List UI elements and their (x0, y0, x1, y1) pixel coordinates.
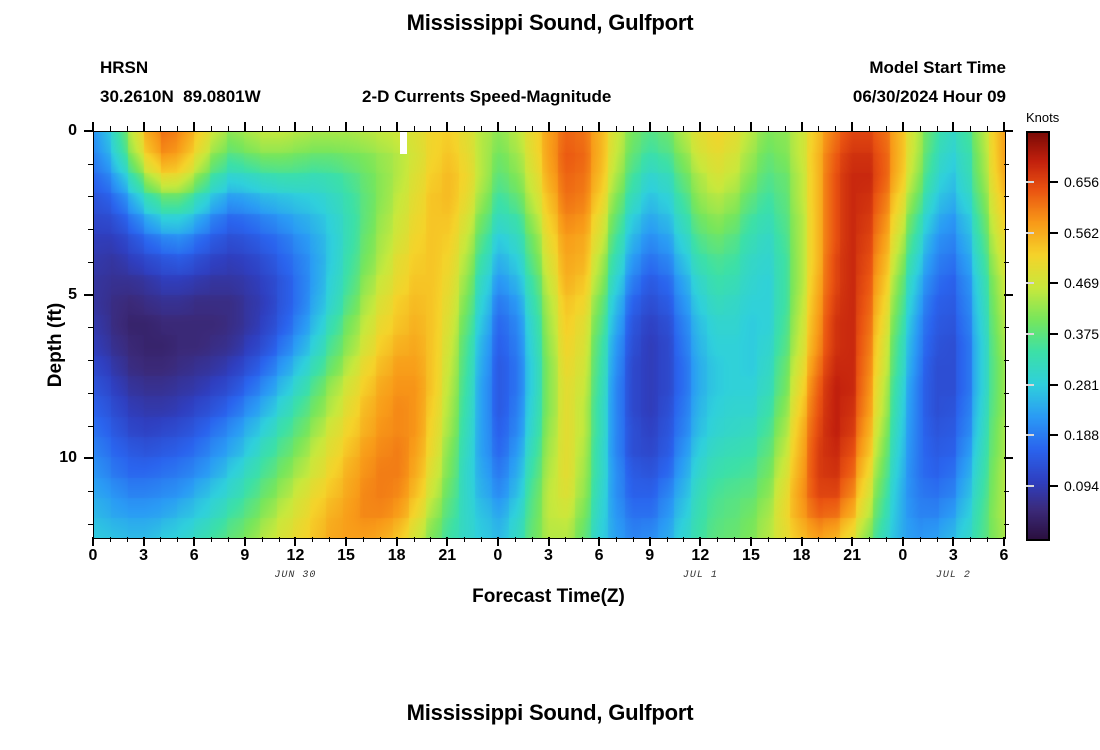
x-axis-tick-label: 3 (949, 547, 958, 565)
x-axis-date-label: JUL 2 (936, 570, 971, 581)
x-axis-major-tick (143, 122, 145, 131)
x-axis-major-tick (92, 122, 94, 131)
y-axis-tick-label: 5 (68, 286, 77, 304)
x-axis-major-tick (497, 122, 499, 131)
plot-subtitle: 2-D Currents Speed-Magnitude (362, 87, 611, 107)
y-axis-major-tick (84, 130, 93, 132)
x-axis-tick-label: 15 (337, 547, 355, 565)
station-id-label: HRSN (100, 58, 148, 78)
x-axis-tick-label: 9 (240, 547, 249, 565)
x-axis-major-tick (244, 122, 246, 131)
colorbar-tick-label: 0.469 (1064, 275, 1099, 291)
x-axis-tick-label: 21 (843, 547, 861, 565)
x-axis-tick-label: 9 (645, 547, 654, 565)
bottom-title: Mississippi Sound, Gulfport (0, 700, 1100, 726)
x-axis-major-tick (345, 122, 347, 131)
x-axis-major-tick (598, 122, 600, 131)
x-axis-tick-label: 18 (793, 547, 811, 565)
colorbar-tick-label: 0.656 (1064, 174, 1099, 190)
x-axis-major-tick (801, 122, 803, 131)
x-axis-tick-label: 6 (595, 547, 604, 565)
x-axis-tick-label: 0 (898, 547, 907, 565)
colorbar-tick-label: 0.188 (1064, 427, 1099, 443)
x-axis-major-tick (446, 122, 448, 131)
colorbar-outer-tick (1050, 181, 1058, 183)
colorbar-tick-label: 0.562 (1064, 225, 1099, 241)
colorbar-tick-label: 0.281 (1064, 377, 1099, 393)
model-start-time-value: 06/30/2024 Hour 09 (853, 87, 1006, 107)
station-coordinates-label: 30.2610N 89.0801W (100, 87, 261, 107)
heatmap-plot-area[interactable] (93, 131, 1006, 539)
x-axis-major-tick (193, 122, 195, 131)
colorbar-unit-label: Knots (1026, 110, 1059, 125)
x-axis-tick-label: 18 (388, 547, 406, 565)
colorbar[interactable] (1026, 131, 1050, 541)
x-axis-tick-label: 15 (742, 547, 760, 565)
colorbar-outer-tick (1050, 434, 1058, 436)
x-axis-tick-label: 3 (544, 547, 553, 565)
colorbar-outer-tick (1050, 333, 1058, 335)
x-axis-major-tick (851, 122, 853, 131)
x-axis-major-tick (750, 122, 752, 131)
model-start-time-label: Model Start Time (869, 58, 1006, 78)
colorbar-outer-tick (1050, 384, 1058, 386)
x-axis-tick-label: 6 (190, 547, 199, 565)
heatmap-canvas[interactable] (94, 132, 1005, 538)
x-axis-tick-label: 12 (287, 547, 305, 565)
colorbar-tick-label: 0.094 (1064, 478, 1099, 494)
y-axis-tick-label: 0 (68, 122, 77, 140)
x-axis-tick-label: 21 (438, 547, 456, 565)
y-axis-major-tick (84, 457, 93, 459)
y-axis-major-tick (84, 294, 93, 296)
x-axis-date-label: JUN 30 (274, 570, 316, 581)
y-axis-title: Depth (ft) (45, 265, 67, 425)
x-axis-major-tick (294, 122, 296, 131)
colorbar-gradient (1028, 133, 1048, 539)
colorbar-outer-tick (1050, 282, 1058, 284)
x-axis-tick-label: 3 (139, 547, 148, 565)
y-axis-tick-label: 10 (59, 449, 77, 467)
main-title: Mississippi Sound, Gulfport (0, 10, 1100, 36)
x-axis-tick-label: 0 (89, 547, 98, 565)
x-axis-tick-label: 0 (493, 547, 502, 565)
x-axis-major-tick (902, 122, 904, 131)
x-axis-tick-label: 12 (691, 547, 709, 565)
x-axis-major-tick (649, 122, 651, 131)
colorbar-outer-tick (1050, 232, 1058, 234)
x-axis-date-label: JUL 1 (683, 570, 718, 581)
x-axis-major-tick (952, 122, 954, 131)
x-axis-major-tick (699, 122, 701, 131)
x-axis-major-tick (548, 122, 550, 131)
colorbar-tick-label: 0.375 (1064, 326, 1099, 342)
x-axis-tick-label: 6 (1000, 547, 1009, 565)
x-axis-title: Forecast Time(Z) (93, 586, 1004, 608)
colorbar-outer-tick (1050, 485, 1058, 487)
model-start-marker (400, 132, 407, 154)
x-axis-major-tick (396, 122, 398, 131)
x-axis-major-tick (1003, 122, 1005, 131)
